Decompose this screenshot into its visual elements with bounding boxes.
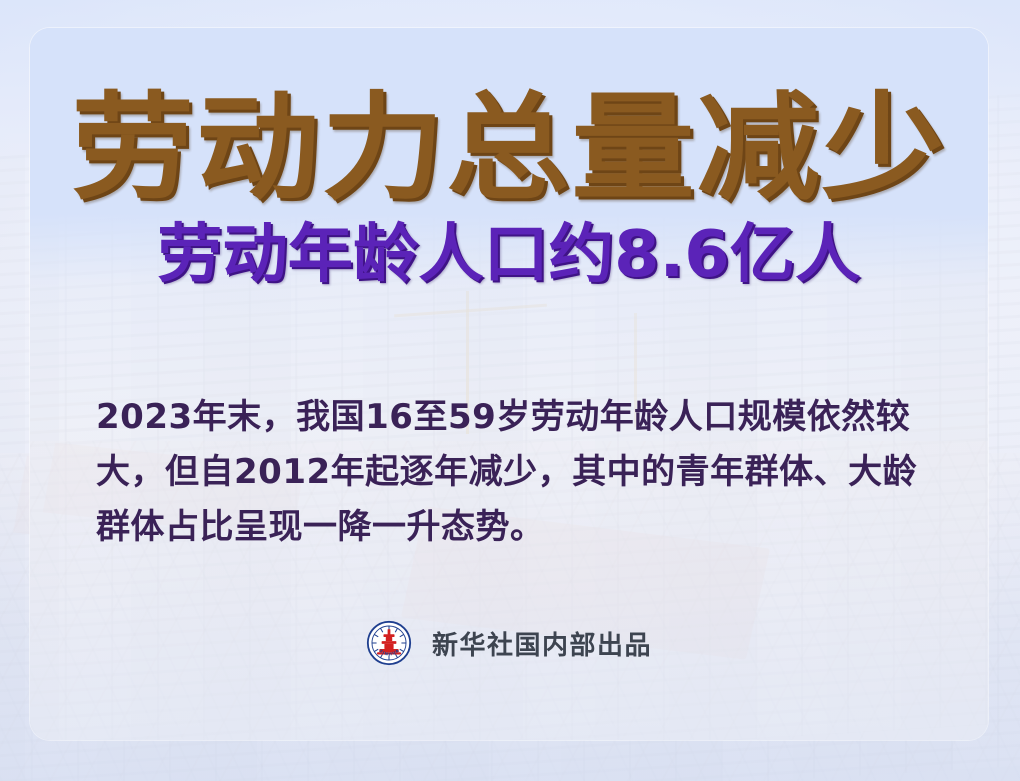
poster-content: 劳动力总量减少 劳动年龄人口约8.6亿人 2023年末，我国16至59岁劳动年龄… bbox=[30, 28, 988, 740]
body-paragraph: 2023年末，我国16至59岁劳动年龄人口规模依然较大，但自2012年起逐年减少… bbox=[96, 390, 922, 555]
poster-card: 劳动力总量减少 劳动年龄人口约8.6亿人 2023年末，我国16至59岁劳动年龄… bbox=[30, 28, 988, 740]
page-subtitle: 劳动年龄人口约8.6亿人 bbox=[157, 222, 860, 289]
xinhua-logo-icon: XINHUA bbox=[366, 620, 412, 666]
page-title: 劳动力总量减少 bbox=[71, 90, 947, 208]
footer-attribution: 新华社国内部出品 bbox=[432, 625, 652, 662]
footer: XINHUA 新华社国内部出品 bbox=[30, 620, 988, 666]
infographic-poster: 劳动力总量减少 劳动年龄人口约8.6亿人 2023年末，我国16至59岁劳动年龄… bbox=[0, 0, 1020, 781]
